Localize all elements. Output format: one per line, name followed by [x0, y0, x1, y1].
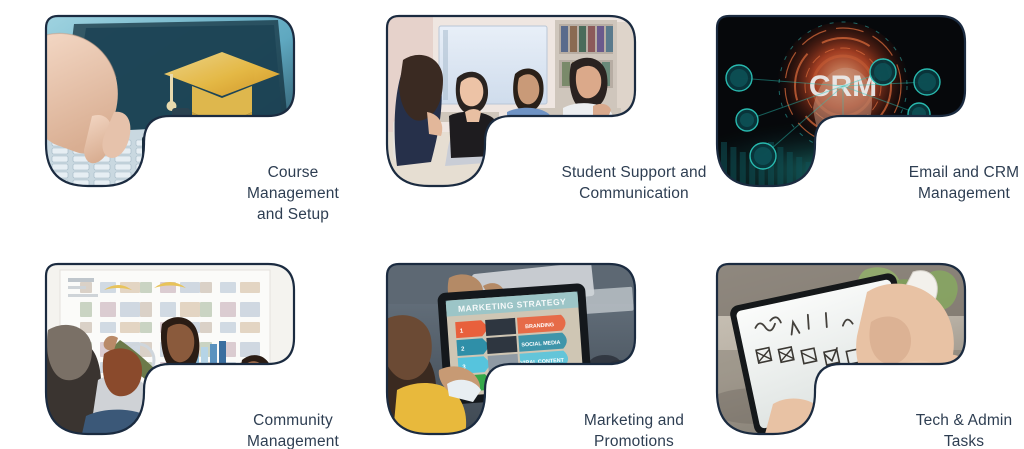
card-title-community-management: Community Management: [166, 410, 420, 449]
card-title-email-and-crm-management: Email and CRM Management: [837, 162, 1024, 204]
feature-card-email-and-crm-management[interactable]: CRM: [715, 14, 1024, 224]
card-title-course-management-and-setup: Course Management and Setup: [166, 162, 420, 225]
svg-text:ADS: ADS: [538, 377, 550, 384]
feature-card-student-support-and-communication[interactable]: Student Support and Communication: [385, 14, 763, 224]
card-title-tech-and-admin-tasks: Tech & Admin Tasks: [837, 410, 1024, 449]
feature-card-marketing-and-promotions[interactable]: MARKETING STRATEGY BRANDING 1 SOCIAL MED…: [385, 262, 763, 449]
card-grid: Course Management and Setup: [0, 0, 1024, 449]
feature-card-course-management-and-setup[interactable]: Course Management and Setup: [44, 14, 422, 224]
feature-card-community-management[interactable]: Community Management: [44, 262, 422, 449]
feature-card-tech-and-admin-tasks[interactable]: Tech & Admin Tasks: [715, 262, 1024, 449]
